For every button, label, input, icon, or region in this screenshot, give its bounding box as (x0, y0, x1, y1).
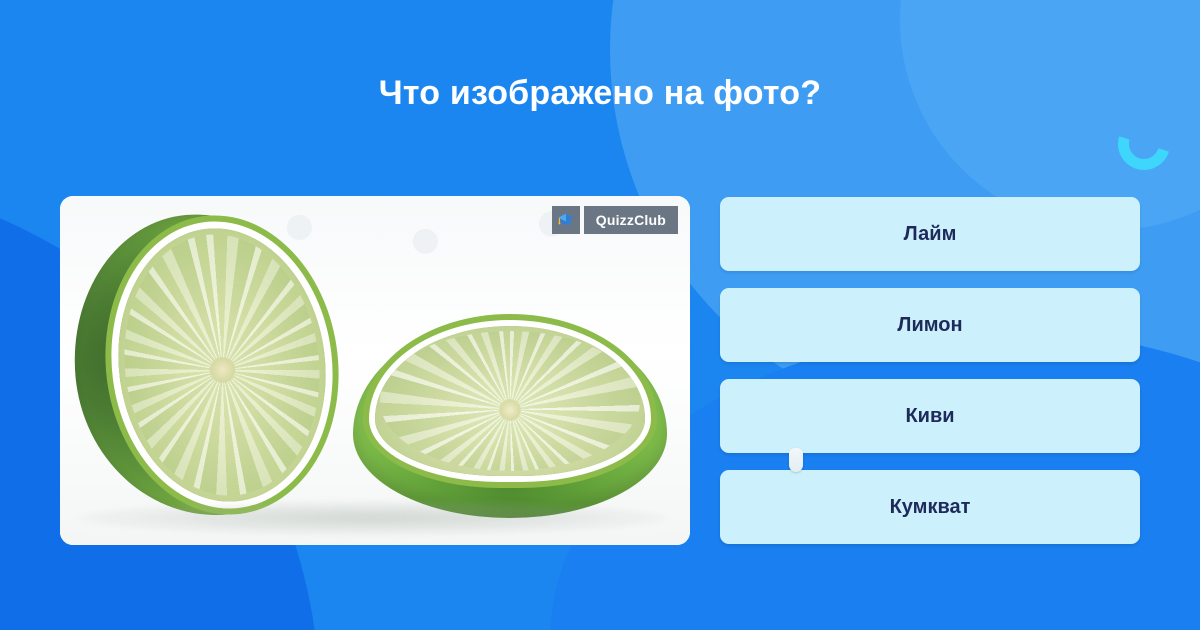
answer-option-1-label: Лайм (904, 223, 957, 246)
answer-option-3[interactable]: Киви (720, 379, 1140, 453)
quiz-card: Что изображено на фото? QuizzClub (0, 0, 1200, 630)
answer-option-4-label: Кумкват (890, 496, 971, 519)
watermark: QuizzClub (552, 206, 678, 234)
answer-option-1[interactable]: Лайм (720, 197, 1140, 271)
graduation-cap-icon (552, 206, 580, 234)
pointer-indicator (789, 448, 803, 472)
watermark-brand: QuizzClub (584, 206, 678, 234)
photo-shadow (78, 501, 668, 535)
question-title: Что изображено на фото? (0, 74, 1200, 113)
answer-option-2[interactable]: Лимон (720, 288, 1140, 362)
answer-option-4[interactable]: Кумкват (720, 470, 1140, 544)
lime-half-left (75, 214, 333, 516)
answer-options-list: Лайм Лимон Киви Кумкват (720, 197, 1140, 544)
question-photo: QuizzClub (60, 196, 690, 545)
lime-half-right (353, 318, 667, 518)
answer-option-2-label: Лимон (897, 314, 962, 337)
answer-option-3-label: Киви (905, 405, 954, 428)
